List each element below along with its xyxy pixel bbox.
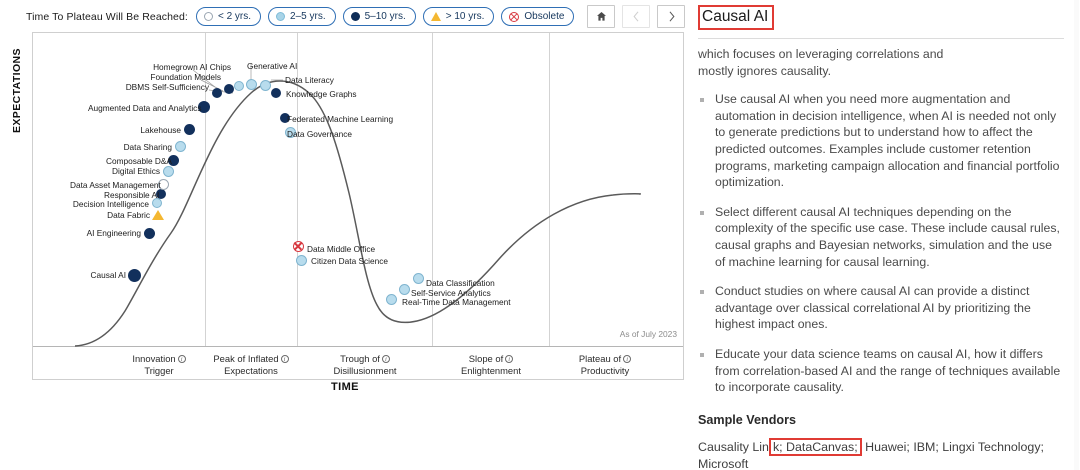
data-point-marker[interactable] — [163, 166, 174, 177]
data-point-label[interactable]: Data Middle Office — [307, 244, 375, 254]
list-item: Select different causal AI techniques de… — [698, 204, 1064, 270]
chevron-left-icon — [632, 11, 641, 22]
obsolete-x-icon — [509, 12, 519, 22]
data-point-marker[interactable] — [128, 269, 141, 282]
legend-pill-label: < 2 yrs. — [218, 11, 251, 22]
sample-vendors-text: Causality Link; DataCanvas; Huawei; IBM;… — [698, 439, 1064, 470]
navigation-buttons — [587, 5, 685, 28]
legend-pill-label: > 10 yrs. — [446, 11, 485, 22]
triangle-warning-icon — [431, 12, 441, 21]
data-point-marker[interactable] — [224, 84, 234, 94]
detail-panel: Causal AI which focuses on leveraging co… — [690, 0, 1080, 470]
data-point-marker-obsolete[interactable] — [293, 241, 304, 252]
data-point-marker[interactable] — [271, 88, 281, 98]
data-point-marker[interactable] — [184, 124, 195, 135]
data-point-label[interactable]: Citizen Data Science — [311, 256, 388, 266]
info-icon[interactable]: i — [505, 355, 513, 363]
vendors-prefix: Causality Lin — [698, 440, 769, 454]
legend-pill-5to10yrs[interactable]: 5–10 yrs. — [343, 7, 416, 26]
circle-outline-icon — [204, 12, 213, 21]
scrollbar[interactable] — [1074, 0, 1079, 470]
info-icon[interactable]: i — [623, 355, 631, 363]
home-button[interactable] — [587, 5, 615, 28]
stage-line-1: Plateau of — [579, 353, 621, 364]
legend-pill-gt10yrs[interactable]: > 10 yrs. — [423, 7, 495, 26]
vendors-highlighted: k; DataCanvas; — [769, 438, 862, 456]
data-point-marker[interactable] — [386, 294, 397, 305]
y-axis-title: EXPECTATIONS — [11, 48, 23, 133]
data-point-label[interactable]: AI Engineering — [83, 228, 141, 238]
stage-line-2: Enlightenment — [461, 365, 521, 376]
data-point-marker[interactable] — [246, 79, 257, 90]
stage-line-2: Trigger — [144, 365, 173, 376]
legend-pill-lt2yrs[interactable]: < 2 yrs. — [196, 7, 261, 26]
circle-dark-icon — [351, 12, 360, 21]
data-point-marker[interactable] — [212, 88, 222, 98]
next-button[interactable] — [657, 5, 685, 28]
data-point-label[interactable]: Real-Time Data Management — [402, 297, 511, 307]
legend-pill-label: 5–10 yrs. — [365, 11, 406, 22]
clipped-text-line-2: mostly ignores causality. — [698, 63, 1064, 80]
stage-line-2: Disillusionment — [333, 365, 396, 376]
data-point-marker[interactable] — [234, 81, 244, 91]
home-icon — [596, 11, 607, 22]
as-of-date: As of July 2023 — [620, 329, 677, 339]
legend-title: Time To Plateau Will Be Reached: — [26, 11, 188, 23]
page-title: Causal AI — [698, 5, 774, 30]
stage-line-1: Innovation — [132, 353, 175, 364]
data-point-label[interactable]: Generative AI — [247, 61, 297, 71]
legend-pill-group: < 2 yrs. 2–5 yrs. 5–10 yrs. > 10 yrs. Ob… — [196, 7, 574, 26]
data-point-label[interactable]: Data Asset Management — [70, 180, 155, 190]
list-item: Educate your data science teams on causa… — [698, 346, 1064, 396]
data-point-label[interactable]: Causal AI — [89, 270, 126, 280]
data-point-label[interactable]: Digital Ethics — [109, 166, 160, 176]
stage-line-1: Trough of — [340, 353, 380, 364]
chevron-right-icon — [667, 11, 676, 22]
data-point-marker[interactable] — [413, 273, 424, 284]
data-point-marker[interactable] — [296, 255, 307, 266]
data-point-marker[interactable] — [399, 284, 410, 295]
stage-label-plateau-of-productivity[interactable]: Plateau ofi Productivity — [525, 353, 684, 377]
data-point-label[interactable]: Composable D&A — [106, 156, 165, 166]
recommendation-list: Use causal AI when you need more augment… — [698, 91, 1064, 396]
data-point-label[interactable]: Data Literacy — [285, 75, 334, 85]
legend-pill-obsolete[interactable]: Obsolete — [501, 7, 574, 26]
hype-cycle-chart: Innovationi Trigger Peak of Inflatedi Ex… — [32, 32, 684, 380]
data-point-label[interactable]: Data Governance — [287, 129, 352, 139]
data-point-label[interactable]: Lakehouse — [140, 125, 181, 135]
data-point-label[interactable]: Federated Machine Learning — [287, 114, 393, 124]
previous-button[interactable] — [622, 5, 650, 28]
data-point-label[interactable]: Data Sharing — [118, 142, 172, 152]
list-item: Conduct studies on where causal AI can p… — [698, 283, 1064, 333]
chart-panel: Time To Plateau Will Be Reached: < 2 yrs… — [0, 0, 690, 470]
sample-vendors-heading: Sample Vendors — [698, 412, 1064, 429]
stage-line-2: Productivity — [581, 365, 629, 376]
data-point-marker[interactable] — [175, 141, 186, 152]
detail-body: which focuses on leveraging correlations… — [698, 46, 1064, 470]
info-icon[interactable]: i — [382, 355, 390, 363]
legend-pill-2to5yrs[interactable]: 2–5 yrs. — [268, 7, 336, 26]
data-point-marker[interactable] — [260, 80, 271, 91]
data-point-label[interactable]: Data Fabric — [106, 210, 150, 220]
stage-line-2: Expectations — [224, 365, 278, 376]
data-point-label[interactable]: Self-Service Analytics — [411, 288, 491, 298]
stage-line-1: Slope of — [469, 353, 503, 364]
list-item: Use causal AI when you need more augment… — [698, 91, 1064, 191]
data-point-marker[interactable] — [144, 228, 155, 239]
data-point-label[interactable]: Augmented Data and Analytics — [88, 103, 196, 113]
data-point-marker-triangle[interactable] — [152, 210, 164, 220]
legend-pill-label: 2–5 yrs. — [290, 11, 326, 22]
hype-cycle-viewer: Time To Plateau Will Be Reached: < 2 yrs… — [0, 0, 1080, 470]
x-axis-title: TIME — [0, 381, 690, 393]
data-point-label[interactable]: Data Classification — [426, 278, 495, 288]
data-point-label[interactable]: Foundation Models — [130, 72, 221, 82]
data-point-label[interactable]: Responsible AI — [104, 190, 153, 200]
data-point-label[interactable]: Knowledge Graphs — [286, 89, 357, 99]
circle-light-icon — [276, 12, 285, 21]
data-point-label[interactable]: DBMS Self-Sufficiency — [125, 82, 209, 92]
clipped-text-line-1: which focuses on leveraging correlations… — [698, 46, 1064, 63]
data-point-label[interactable]: Decision Intelligence — [72, 199, 149, 209]
title-divider — [698, 38, 1064, 39]
legend-pill-label: Obsolete — [524, 11, 564, 22]
stage-line-1: Peak of Inflated — [213, 353, 278, 364]
data-point-label[interactable]: Homegrown AI Chips — [125, 62, 231, 72]
